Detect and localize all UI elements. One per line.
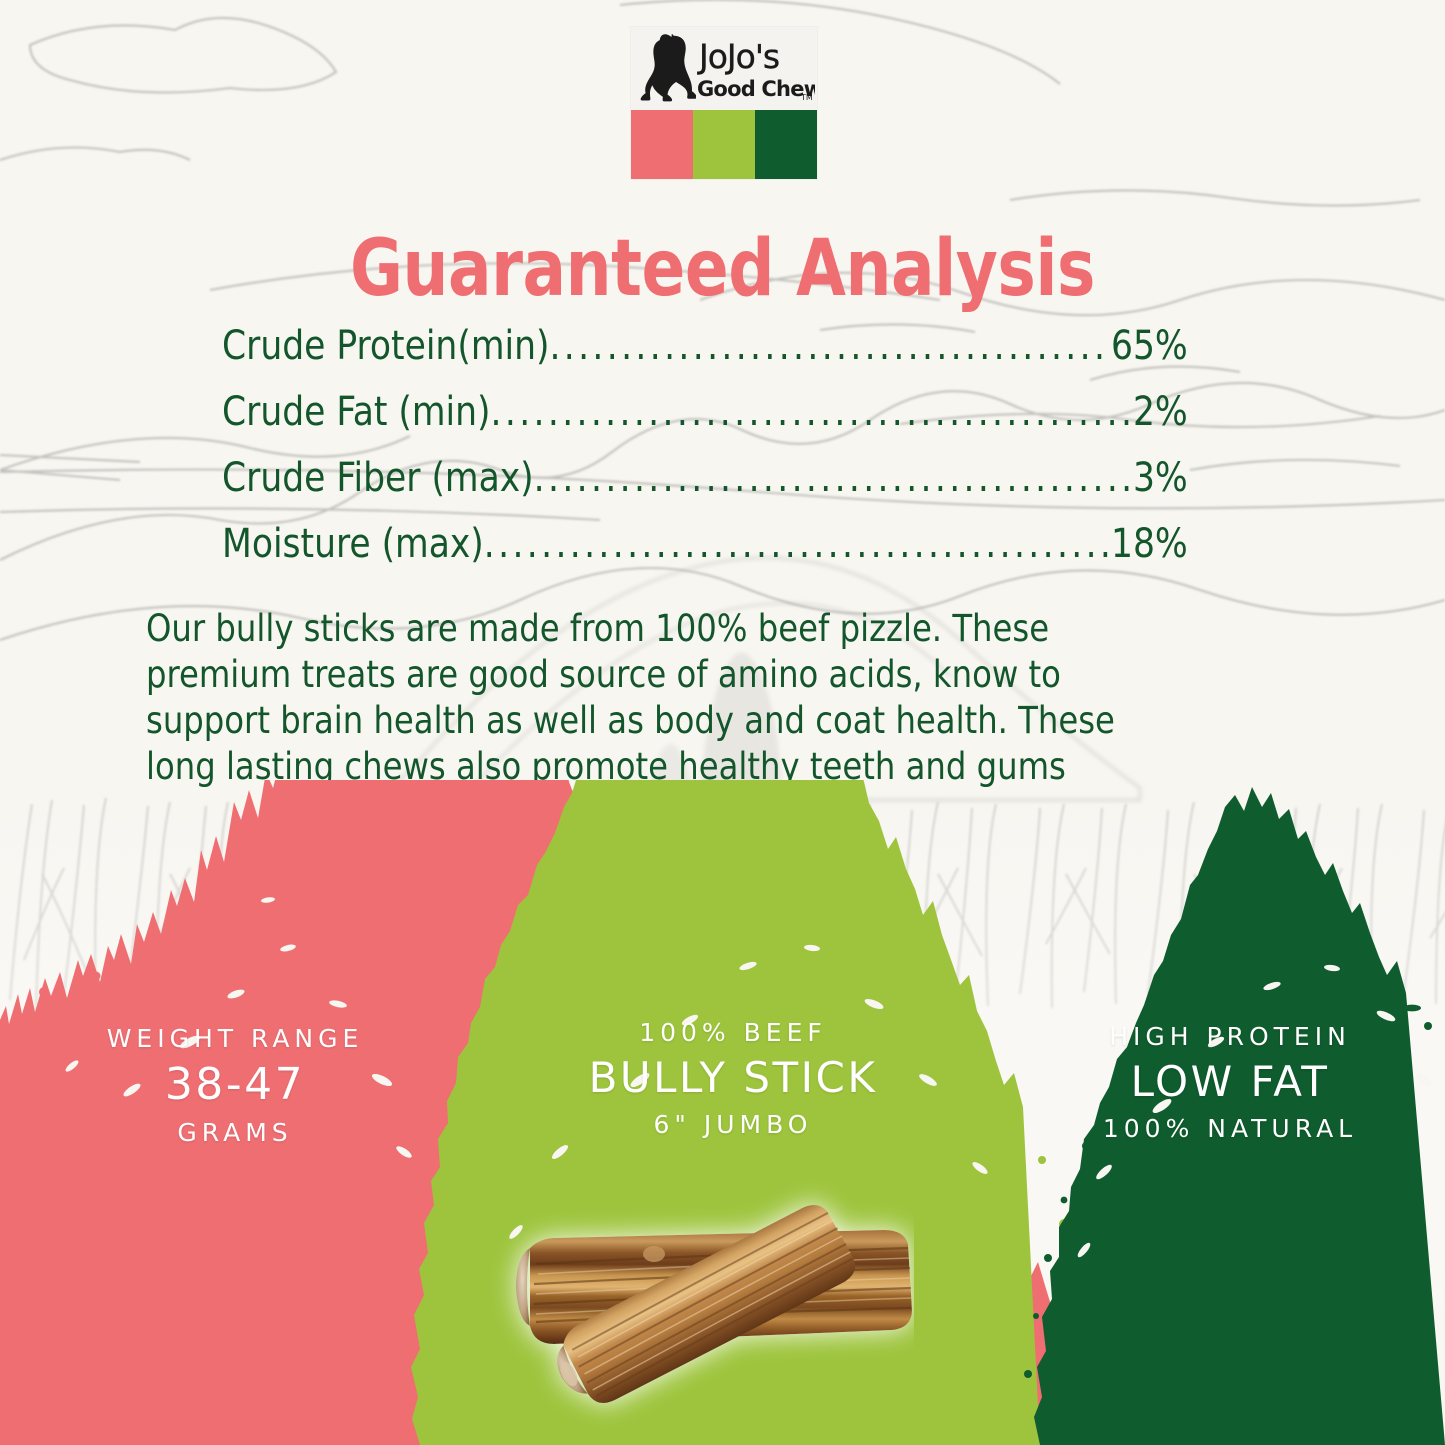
logo-name-line2: Good Chews — [697, 77, 815, 101]
analysis-label: Crude Fat (min) — [222, 392, 491, 432]
trademark-symbol: TM — [800, 93, 813, 102]
analysis-label: Moisture (max) — [222, 524, 484, 564]
caption-line-1: WEIGHT RANGE — [20, 1024, 450, 1053]
swatch-coral — [631, 110, 693, 179]
swatch-dark-green — [755, 110, 817, 179]
logo-top: JoJo's Good Chews TM — [631, 27, 817, 110]
analysis-row: Crude Fiber (max) ......................… — [222, 458, 1188, 524]
analysis-value: 2% — [1133, 392, 1188, 432]
caption-line-3: 100% NATURAL — [1030, 1114, 1430, 1143]
analysis-label: Crude Fiber (max) — [222, 458, 534, 498]
logo-name-line1: JoJo's — [697, 37, 779, 76]
description-line: support brain health as well as body and… — [146, 698, 1263, 744]
analysis-row: Crude Fat (min) ........................… — [222, 392, 1188, 458]
brand-logo[interactable]: JoJo's Good Chews TM — [631, 27, 817, 179]
leader-dots: ........................................… — [484, 524, 1111, 564]
caption-line-1: HIGH PROTEIN — [1030, 1022, 1430, 1051]
caption-line-2: 38-47 — [20, 1059, 450, 1110]
page-title: Guaranteed Analysis — [58, 224, 1387, 314]
analysis-row: Moisture (max) .........................… — [222, 524, 1188, 590]
description-line: premium treats are good source of amino … — [146, 652, 1263, 698]
bully-sticks-photo — [484, 1168, 914, 1445]
product-description: Our bully sticks are made from 100% beef… — [146, 606, 1263, 790]
logo-wordmark: JoJo's Good Chews TM — [697, 30, 815, 108]
leader-dots: ........................................… — [549, 326, 1111, 366]
caption-line-2: BULLY STICK — [528, 1053, 938, 1102]
leader-dots: ........................................… — [534, 458, 1133, 498]
caption-line-3: GRAMS — [20, 1118, 450, 1147]
leader-dots: ........................................… — [491, 392, 1133, 432]
analysis-label: Crude Protein(min) — [222, 326, 549, 366]
analysis-value: 65% — [1111, 326, 1188, 366]
guaranteed-analysis-list: Crude Protein(min) .....................… — [222, 326, 1228, 590]
panel-caption-weight-range: WEIGHT RANGE 38-47 GRAMS — [20, 1024, 450, 1147]
analysis-row: Crude Protein(min) .....................… — [222, 326, 1188, 392]
panel-caption-high-protein: HIGH PROTEIN LOW FAT 100% NATURAL — [1030, 1022, 1430, 1143]
panel-caption-beef-bully-stick: 100% BEEF BULLY STICK 6" JUMBO — [528, 1018, 938, 1139]
analysis-value: 3% — [1133, 458, 1188, 498]
brand-color-swatches — [631, 110, 817, 179]
product-infographic: JoJo's Good Chews TM Guaranteed Analysis… — [0, 0, 1445, 1445]
swatch-lime — [693, 110, 755, 179]
caption-line-1: 100% BEEF — [528, 1018, 938, 1047]
caption-line-2: LOW FAT — [1030, 1057, 1430, 1106]
dog-silhouette-icon — [640, 34, 696, 102]
analysis-value: 18% — [1111, 524, 1188, 564]
caption-line-3: 6" JUMBO — [528, 1110, 938, 1139]
description-line: Our bully sticks are made from 100% beef… — [146, 606, 1263, 652]
